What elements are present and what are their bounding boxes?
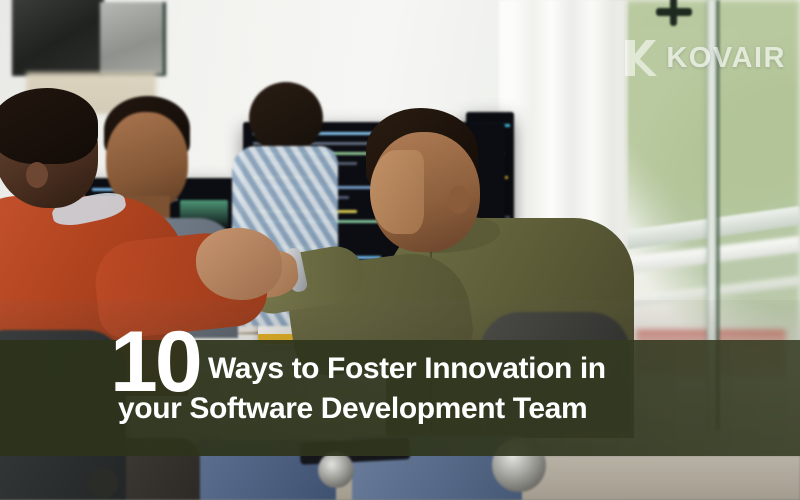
developer-orange-hand: [196, 228, 282, 300]
chair-wheel: [318, 452, 354, 488]
developer-olive-ear: [448, 186, 470, 214]
kovair-logo[interactable]: KOVAIR: [623, 38, 786, 78]
chair-base: [88, 468, 118, 498]
wall-panel-secondary: [100, 2, 166, 76]
article-hero-banner: KOVAIR 10 Ways to Foster Innovation in y…: [0, 0, 800, 500]
window-handle-icon: [656, 8, 692, 16]
headline-line-2: your Software Development Team: [118, 389, 587, 429]
developer-olive-face: [370, 150, 424, 234]
headline-line-1: Ways to Foster Innovation in: [208, 349, 606, 389]
developer-orange-hair: [0, 88, 98, 164]
kovair-k-logo-icon: [623, 38, 657, 78]
developer-orange-ear: [26, 162, 48, 188]
wall-panel: [12, 0, 104, 76]
kovair-wordmark: KOVAIR: [666, 42, 786, 75]
developer-plaid-hair: [249, 82, 323, 154]
